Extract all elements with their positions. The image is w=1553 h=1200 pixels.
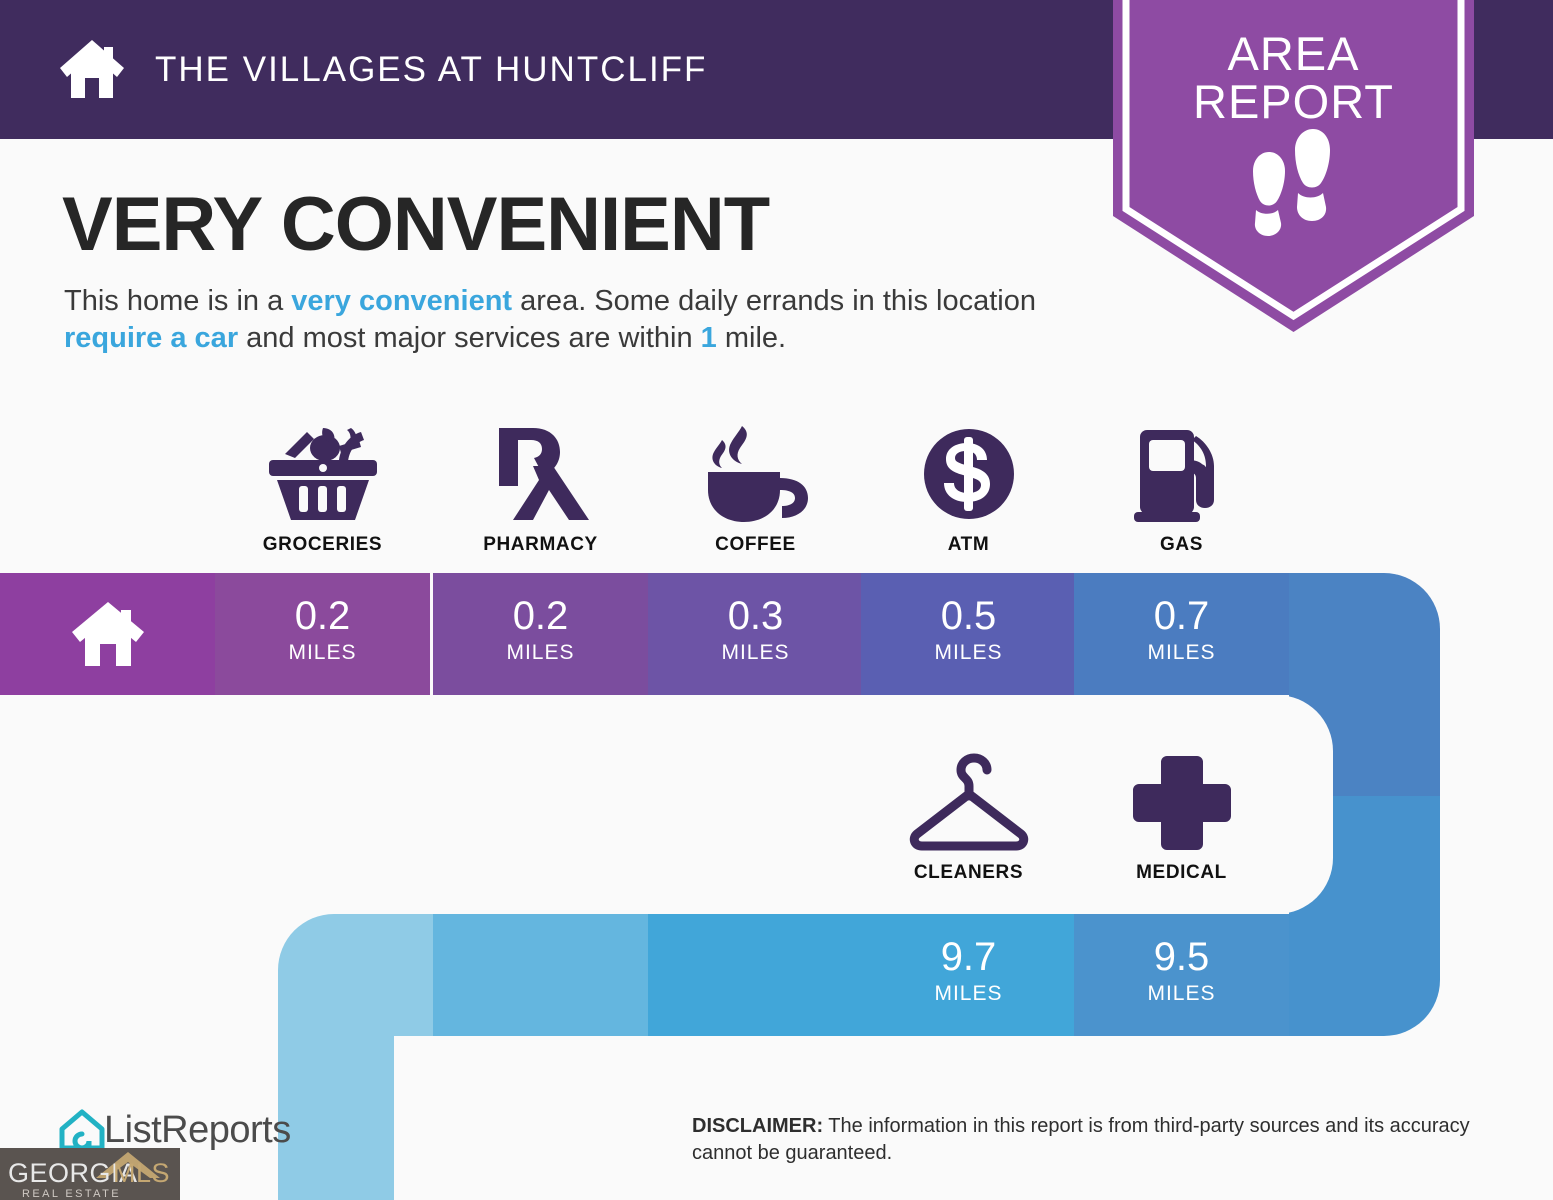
service-coffee: COFFEE [648, 424, 863, 556]
atm-dollar-icon [861, 424, 1076, 524]
desc-highlight-3: 1 [701, 322, 717, 354]
desc-part-3: and most major services are within [238, 322, 701, 354]
mls-tagline: REAL ESTATE SERVICES [22, 1188, 180, 1200]
desc-part-2: area. Some daily errands in this locatio… [512, 285, 1036, 317]
service-cleaners: CLEANERS [861, 752, 1076, 884]
distance-segment-atm: 0.5 MILES [861, 573, 1076, 695]
badge-line-2: REPORT [1113, 76, 1474, 128]
service-label: MEDICAL [1074, 862, 1289, 884]
distance-segment-groceries: 0.2 MILES [215, 573, 430, 695]
badge-line-1: AREA [1113, 28, 1474, 80]
distance-value: 0.5 [861, 595, 1076, 637]
service-label: COFFEE [648, 534, 863, 556]
distance-value: 0.3 [648, 595, 863, 637]
service-medical: MEDICAL [1074, 752, 1289, 884]
desc-part-1: This home is in a [64, 285, 291, 317]
area-report-badge: AREA REPORT [1113, 0, 1474, 332]
service-atm: ATM [861, 424, 1076, 556]
page-title: THE VILLAGES AT HUNTCLIFF [155, 50, 707, 90]
distance-unit: MILES [1074, 982, 1289, 1006]
coffee-cup-icon [648, 424, 863, 524]
home-icon [69, 600, 147, 668]
distance-segment-gas: 0.7 MILES [1074, 573, 1289, 695]
distance-value: 9.5 [1074, 936, 1289, 978]
service-groceries: GROCERIES [215, 424, 430, 556]
snake-empty-cell-2 [648, 914, 863, 1036]
home-icon [57, 38, 127, 100]
cleaners-hanger-icon [861, 752, 1076, 852]
snake-elbow-top-right [1289, 573, 1440, 695]
disclaimer: DISCLAIMER: The information in this repo… [692, 1113, 1492, 1167]
service-pharmacy: PHARMACY [433, 424, 648, 556]
georgia-mls-logo: GEORGIA MLS REAL ESTATE SERVICES [0, 1148, 180, 1200]
groceries-basket-icon [215, 424, 430, 524]
distance-segment-medical: 9.5 MILES [1074, 914, 1289, 1036]
medical-cross-icon [1074, 752, 1289, 852]
disclaimer-label: DISCLAIMER: [692, 1115, 823, 1137]
distance-value: 0.2 [433, 595, 648, 637]
distance-value: 0.2 [215, 595, 430, 637]
snake-tail-left [278, 914, 433, 1036]
mls-word-mls: MLS [113, 1158, 170, 1189]
gas-pump-icon [1074, 424, 1289, 524]
snake-empty-cell-1 [433, 914, 648, 1036]
distance-unit: MILES [433, 641, 648, 665]
distance-unit: MILES [648, 641, 863, 665]
pharmacy-rx-icon [433, 424, 648, 524]
distance-value: 9.7 [861, 936, 1076, 978]
headline-description: This home is in a very convenient area. … [64, 283, 1099, 357]
service-label: GAS [1074, 534, 1289, 556]
distance-unit: MILES [861, 641, 1076, 665]
service-label: CLEANERS [861, 862, 1076, 884]
headline: VERY CONVENIENT [62, 183, 769, 267]
distance-segment-coffee: 0.3 MILES [648, 573, 863, 695]
distance-segment-pharmacy: 0.2 MILES [433, 573, 648, 695]
desc-highlight-1: very convenient [291, 285, 512, 317]
distance-segment-cleaners: 9.7 MILES [861, 914, 1076, 1036]
distance-value: 0.7 [1074, 595, 1289, 637]
desc-part-4: mile. [717, 322, 786, 354]
distance-unit: MILES [1074, 641, 1289, 665]
home-marker-cell [0, 573, 215, 695]
distance-unit: MILES [861, 982, 1076, 1006]
desc-highlight-2: require a car [64, 322, 238, 354]
service-label: ATM [861, 534, 1076, 556]
distance-unit: MILES [215, 641, 430, 665]
service-label: PHARMACY [433, 534, 648, 556]
service-label: GROCERIES [215, 534, 430, 556]
service-gas: GAS [1074, 424, 1289, 556]
